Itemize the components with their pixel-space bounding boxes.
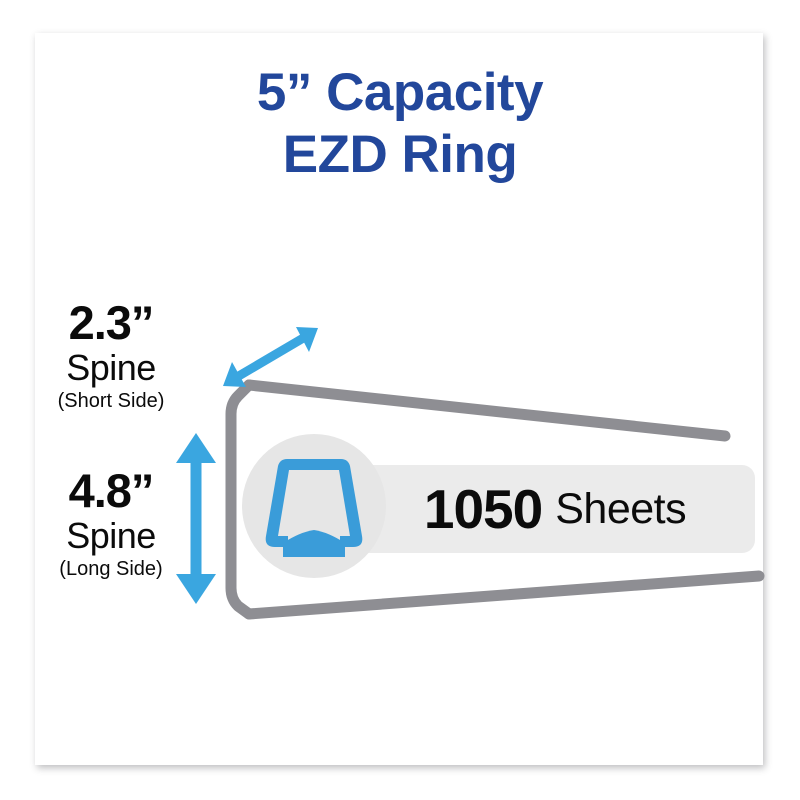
short-side-dimension-arrow-icon xyxy=(223,327,318,387)
sheets-count: 1050 xyxy=(424,480,542,538)
callout-short-side: 2.3” Spine (Short Side) xyxy=(22,298,200,414)
callout-long-qualifier: (Long Side) xyxy=(22,556,200,582)
sheets-label: Sheets xyxy=(555,480,686,538)
long-arrow-head-top xyxy=(176,433,216,463)
product-infographic: 5” Capacity EZD Ring xyxy=(0,0,800,800)
binder-top-edge xyxy=(249,385,725,436)
sheets-capacity-banner: 1050 Sheets xyxy=(355,466,755,552)
callout-long-side: 4.8” Spine (Long Side) xyxy=(22,466,200,582)
callout-long-label: Spine xyxy=(22,516,200,556)
short-arrow-shaft xyxy=(237,337,305,377)
callout-short-label: Spine xyxy=(22,348,200,388)
callout-long-measurement: 4.8” xyxy=(22,466,200,516)
callout-short-measurement: 2.3” xyxy=(22,298,200,348)
binder-bottom-edge xyxy=(249,576,759,614)
callout-short-qualifier: (Short Side) xyxy=(22,388,200,414)
